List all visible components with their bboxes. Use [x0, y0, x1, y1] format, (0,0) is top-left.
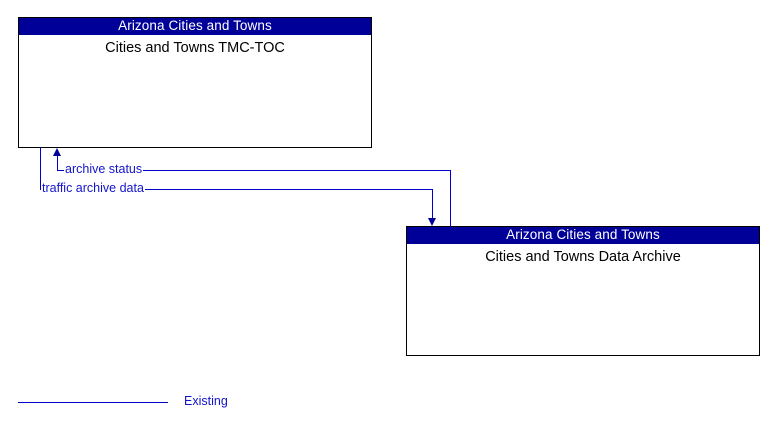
entity-name-label-tmc-toc: Cities and Towns TMC-TOC: [19, 35, 371, 57]
entity-name-label-data-archive: Cities and Towns Data Archive: [407, 244, 759, 266]
flow-segment-archive-status-left-vertical: [57, 156, 58, 171]
entity-box-tmc-toc[interactable]: Arizona Cities and Towns Cities and Town…: [18, 17, 372, 148]
legend: Existing: [0, 388, 783, 418]
legend-label-existing: Existing: [184, 394, 228, 409]
arrowhead-icon-archive-status: [53, 148, 61, 156]
context-diagram-canvas: Arizona Cities and Towns Cities and Town…: [0, 0, 783, 431]
flow-label-archive-status: archive status: [64, 162, 143, 176]
entity-box-data-archive[interactable]: Arizona Cities and Towns Cities and Town…: [406, 226, 760, 356]
arrowhead-icon-traffic-archive-data: [428, 218, 436, 226]
flow-segment-archive-status-right-vertical: [450, 170, 451, 227]
flow-segment-traffic-archive-data-right-vertical: [432, 189, 433, 218]
flow-label-traffic-archive-data: traffic archive data: [41, 181, 145, 195]
legend-line-swatch-existing: [18, 402, 168, 403]
entity-stakeholder-label-data-archive: Arizona Cities and Towns: [407, 227, 759, 244]
entity-stakeholder-label-tmc-toc: Arizona Cities and Towns: [19, 18, 371, 35]
